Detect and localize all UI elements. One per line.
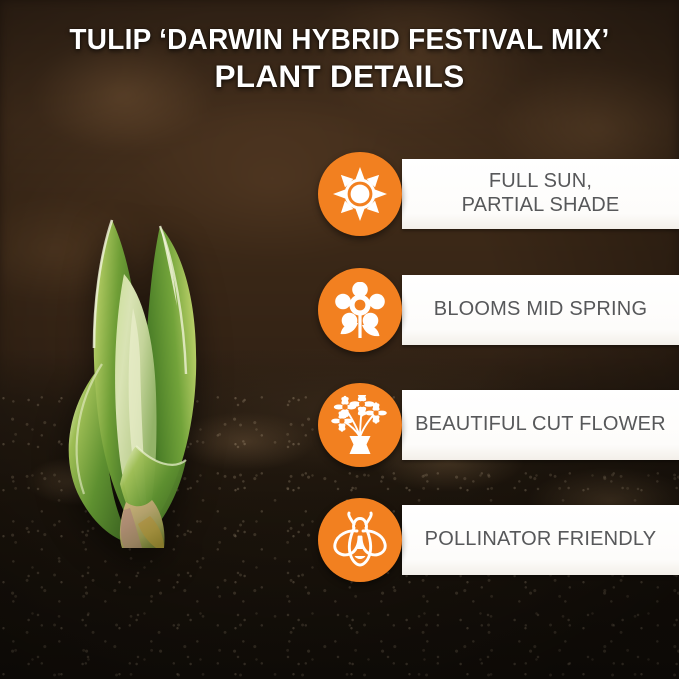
vase-flowers-icon bbox=[331, 395, 389, 455]
feature-row-full-sun: FULL SUN, PARTIAL SHADE bbox=[318, 159, 679, 229]
feature-row-pollinator: POLLINATOR FRIENDLY bbox=[308, 505, 679, 575]
feature-badge bbox=[318, 498, 402, 582]
feature-bar: BLOOMS MID SPRING bbox=[402, 275, 679, 345]
feature-badge bbox=[318, 268, 402, 352]
feature-label: BLOOMS MID SPRING bbox=[434, 298, 647, 322]
feature-bar: POLLINATOR FRIENDLY bbox=[402, 505, 679, 575]
infographic-canvas: TULIP ‘DARWIN HYBRID FESTIVAL MIX’ PLANT… bbox=[0, 0, 679, 679]
feature-badge bbox=[318, 383, 402, 467]
feature-row-blooms: BLOOMS MID SPRING bbox=[318, 275, 679, 345]
bee-icon bbox=[330, 511, 390, 569]
feature-row-cut-flower: BEAUTIFUL CUT FLOWER bbox=[308, 390, 679, 460]
feature-badge bbox=[318, 152, 402, 236]
feature-label: POLLINATOR FRIENDLY bbox=[425, 528, 657, 552]
feature-label: FULL SUN, PARTIAL SHADE bbox=[462, 170, 620, 217]
feature-bar: BEAUTIFUL CUT FLOWER bbox=[402, 390, 679, 460]
flower-icon bbox=[333, 282, 387, 338]
sun-icon bbox=[332, 166, 388, 222]
feature-label: BEAUTIFUL CUT FLOWER bbox=[415, 413, 666, 437]
tulip-sprout-illustration bbox=[40, 178, 240, 548]
feature-bar: FULL SUN, PARTIAL SHADE bbox=[402, 159, 679, 229]
